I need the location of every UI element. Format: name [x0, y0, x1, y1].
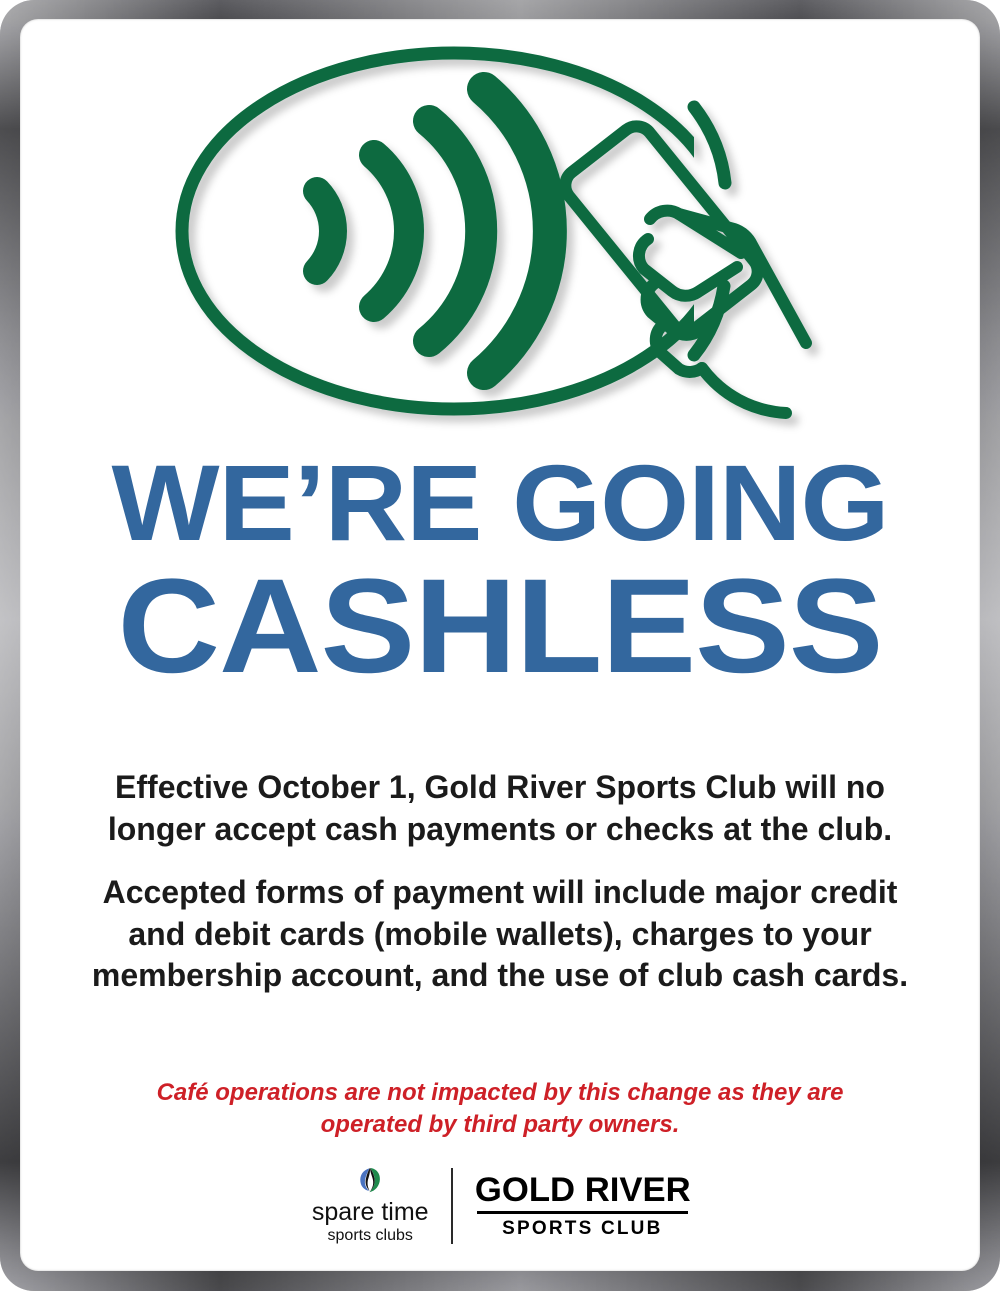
- sign-frame: WE’RE GOING CASHLESS Effective October 1…: [0, 0, 1000, 1291]
- sign-face: WE’RE GOING CASHLESS Effective October 1…: [20, 19, 980, 1271]
- gold-river-brand: GOLD RIVER SPORTS CLUB: [453, 1173, 689, 1239]
- gold-river-name: GOLD RIVER: [474, 1173, 690, 1209]
- headline-line-1: WE’RE GOING: [20, 451, 980, 556]
- cafe-disclaimer: Café operations are not impacted by this…: [130, 1077, 870, 1141]
- spare-time-s-swirl-logo: [355, 1167, 385, 1197]
- gold-river-subtitle: SPORTS CLUB: [502, 1219, 662, 1238]
- contactless-payment-symbol: [20, 43, 980, 443]
- spare-time-subtitle: sports clubs: [328, 1228, 413, 1244]
- body-paragraph-2: Accepted forms of payment will include m…: [80, 872, 920, 997]
- spare-time-name: spare time: [312, 1200, 429, 1225]
- spare-time-brand: spare time sports clubs: [312, 1167, 451, 1244]
- body-paragraph-1: Effective October 1, Gold River Sports C…: [80, 767, 920, 850]
- body-copy: Effective October 1, Gold River Sports C…: [80, 767, 920, 997]
- headline: WE’RE GOING CASHLESS: [20, 451, 980, 692]
- footer-logo-lockup: spare time sports clubs GOLD RIVER SPORT…: [20, 1167, 980, 1244]
- gold-river-rule: [477, 1211, 689, 1214]
- headline-line-2: CASHLESS: [20, 562, 980, 692]
